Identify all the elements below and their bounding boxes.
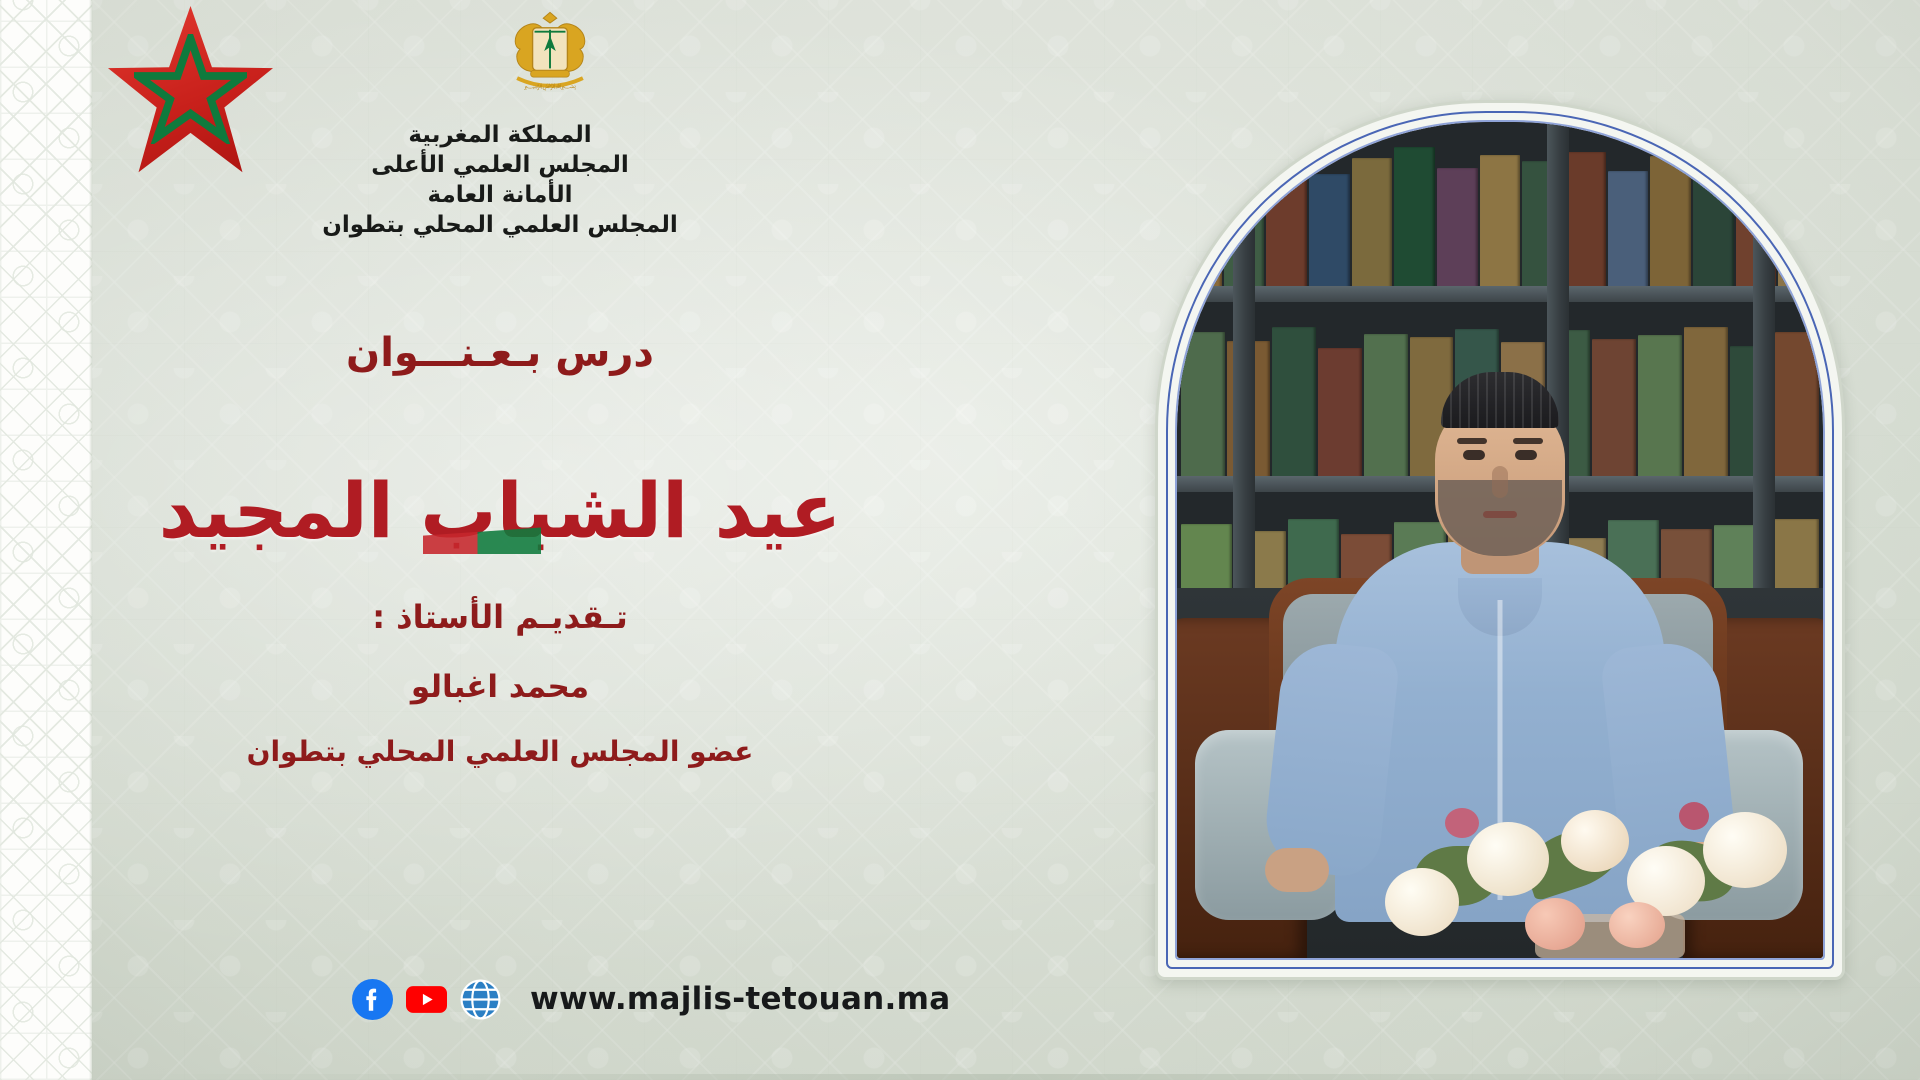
hand-left	[1265, 848, 1329, 892]
presenter-block: تـقديـم الأستاذ : محمد اغبالو عضو المجلس…	[120, 598, 880, 768]
morocco-coat-of-arms-icon: ﷽	[492, 10, 608, 94]
presenter-photo	[1177, 122, 1823, 958]
svg-text:﷽: ﷽	[524, 82, 576, 91]
eyebrow-left	[1457, 438, 1487, 444]
border-edge-shadow	[89, 0, 92, 1080]
presenter-photo-frame	[1155, 100, 1845, 980]
nose	[1492, 466, 1508, 498]
footer-bar: www.majlis-tetouan.ma	[352, 972, 950, 1026]
header-line-2: المجلس العلمي الأعلى	[120, 150, 880, 180]
poster-stage: ﷽ المملكة المغربية المجلس العلمي الأعلى …	[0, 0, 1920, 1080]
eyebrow-right	[1513, 438, 1543, 444]
photo-frame-inner	[1175, 120, 1825, 960]
page-title: عيد الشباب المجيد	[100, 468, 900, 554]
bottom-divider	[92, 1074, 1920, 1080]
header-line-1: المملكة المغربية	[120, 120, 880, 150]
eye-left	[1463, 450, 1485, 460]
lesson-label: درس بـعـنـــوان	[120, 330, 880, 376]
facebook-icon[interactable]	[352, 979, 393, 1020]
header-line-4: المجلس العلمي المحلي بتطوان	[120, 210, 880, 240]
presenter-intro: تـقديـم الأستاذ :	[120, 598, 880, 636]
eye-right	[1515, 450, 1537, 460]
youtube-icon[interactable]	[406, 979, 447, 1020]
presenter-name: محمد اغبالو	[120, 669, 880, 705]
border-circle-pattern	[0, 0, 92, 1080]
presenter-affiliation: عضو المجلس العلمي المحلي بتطوان	[120, 735, 880, 768]
website-globe-icon[interactable]	[460, 979, 501, 1020]
left-decorative-border	[0, 0, 92, 1080]
organisation-header: المملكة المغربية المجلس العلمي الأعلى ال…	[120, 120, 880, 240]
website-url[interactable]: www.majlis-tetouan.ma	[530, 981, 950, 1017]
flower-bouquet	[1375, 758, 1805, 958]
mouth	[1483, 511, 1517, 518]
page-title-text: عيد الشباب المجيد	[159, 466, 842, 555]
header-line-3: الأمانة العامة	[120, 180, 880, 210]
